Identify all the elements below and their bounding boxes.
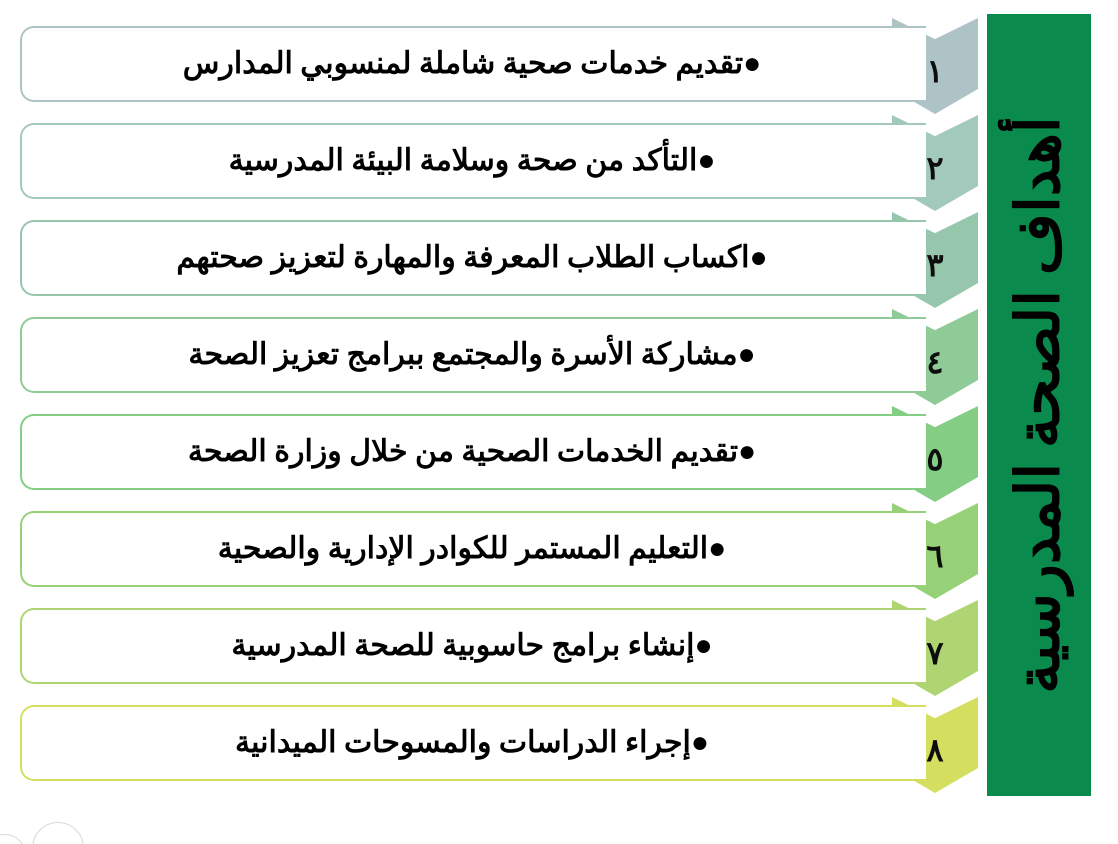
process-step-number: ٤ [926, 346, 943, 378]
process-row-textbox[interactable]: ●اكساب الطلاب المعرفة والمهارة لتعزيز صح… [20, 220, 926, 296]
process-row-label: ●تقديم خدمات صحية شاملة لمنسوبي المدارس [183, 47, 761, 82]
process-row-textbox[interactable]: ●التأكد من صحة وسلامة البيئة المدرسية [20, 123, 926, 199]
process-row[interactable]: ٧●إنشاء برامج حاسوبية للصحة المدرسية [8, 600, 978, 696]
process-row[interactable]: ٤●مشاركة الأسرة والمجتمع ببرامج تعزيز ال… [8, 309, 978, 405]
process-row-label: ●إنشاء برامج حاسوبية للصحة المدرسية [231, 629, 712, 664]
process-row[interactable]: ٢●التأكد من صحة وسلامة البيئة المدرسية [8, 115, 978, 211]
process-row-label: ●التعليم المستمر للكوادر الإدارية والصحي… [218, 532, 726, 567]
process-step-number: ٣ [926, 249, 943, 281]
process-row-textbox[interactable]: ●تقديم خدمات صحية شاملة لمنسوبي المدارس [20, 26, 926, 102]
process-step-number: ٧ [926, 637, 943, 669]
diagram-canvas: ١●تقديم خدمات صحية شاملة لمنسوبي المدارس… [0, 0, 1118, 844]
process-row-textbox[interactable]: ●التعليم المستمر للكوادر الإدارية والصحي… [20, 511, 926, 587]
process-row-label: ●اكساب الطلاب المعرفة والمهارة لتعزيز صح… [176, 241, 767, 276]
process-row[interactable]: ١●تقديم خدمات صحية شاملة لمنسوبي المدارس [8, 18, 978, 114]
process-row-textbox[interactable]: ●تقديم الخدمات الصحية من خلال وزارة الصح… [20, 414, 926, 490]
process-step-number: ٥ [926, 443, 943, 475]
process-step-number: ٨ [926, 734, 943, 766]
diagram-title-banner: أهداف الصحة المدرسية [987, 14, 1091, 796]
process-row[interactable]: ٥●تقديم الخدمات الصحية من خلال وزارة الص… [8, 406, 978, 502]
process-row[interactable]: ٦●التعليم المستمر للكوادر الإدارية والصح… [8, 503, 978, 599]
process-row-label: ●تقديم الخدمات الصحية من خلال وزارة الصح… [188, 435, 756, 470]
process-row-label: ●إجراء الدراسات والمسوحات الميدانية [235, 726, 709, 761]
process-row[interactable]: ٨●إجراء الدراسات والمسوحات الميدانية [8, 697, 978, 793]
process-step-number: ٢ [926, 152, 943, 184]
process-row-textbox[interactable]: ●إجراء الدراسات والمسوحات الميدانية [20, 705, 926, 781]
process-row-label: ●مشاركة الأسرة والمجتمع ببرامج تعزيز الص… [188, 338, 755, 373]
diagram-title-text: أهداف الصحة المدرسية [1009, 116, 1069, 693]
process-row[interactable]: ٣●اكساب الطلاب المعرفة والمهارة لتعزيز ص… [8, 212, 978, 308]
process-rows-list: ١●تقديم خدمات صحية شاملة لمنسوبي المدارس… [0, 0, 978, 844]
process-step-number: ٦ [926, 540, 943, 572]
process-row-textbox[interactable]: ●مشاركة الأسرة والمجتمع ببرامج تعزيز الص… [20, 317, 926, 393]
process-step-number: ١ [926, 55, 943, 87]
process-row-label: ●التأكد من صحة وسلامة البيئة المدرسية [229, 144, 716, 179]
process-row-textbox[interactable]: ●إنشاء برامج حاسوبية للصحة المدرسية [20, 608, 926, 684]
